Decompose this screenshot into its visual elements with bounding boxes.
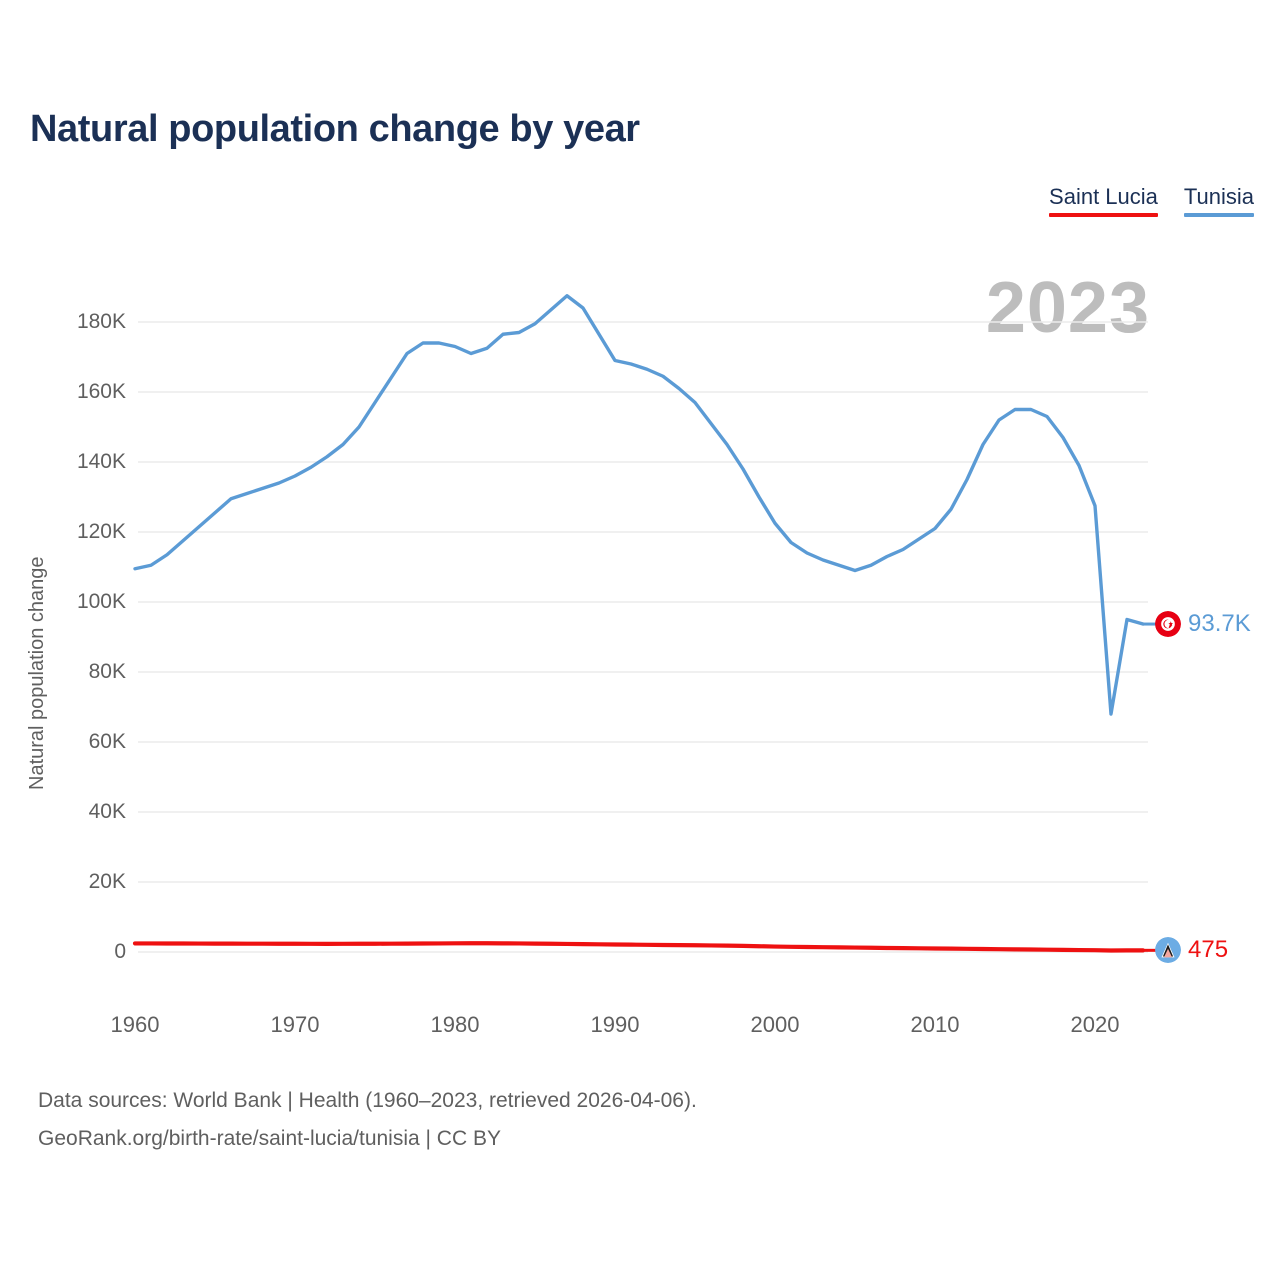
x-axis-tick-label: 2020 [1071,1012,1120,1038]
y-axis-tick-label: 80K [89,660,126,684]
series-lines [135,296,1143,951]
footer-line-1: Data sources: World Bank | Health (1960–… [38,1082,697,1120]
series-line-saint-lucia [135,943,1143,950]
footer-line-2: GeoRank.org/birth-rate/saint-lucia/tunis… [38,1120,697,1158]
saint-lucia-flag-icon [1155,937,1181,963]
series-line-tunisia [135,296,1143,714]
y-axis-tick-label: 20K [89,870,126,894]
x-axis-tick-label: 2010 [911,1012,960,1038]
chart-page: Natural population change by year Saint … [0,0,1280,1280]
x-axis-tick-label: 1980 [431,1012,480,1038]
tunisia-flag-icon [1155,611,1181,637]
endpoint-connectors [1143,624,1157,950]
tunisia-endpoint[interactable]: 93.7K [1155,610,1251,638]
y-axis-tick-label: 160K [77,380,126,404]
y-axis-tick-label: 100K [77,590,126,614]
footer-attribution: Data sources: World Bank | Health (1960–… [38,1082,697,1158]
x-axis-tick-label: 1960 [111,1012,160,1038]
y-axis-tick-label: 40K [89,800,126,824]
y-axis-tick-label: 0 [114,940,126,964]
y-axis-tick-label: 60K [89,730,126,754]
y-axis-tick-label: 120K [77,520,126,544]
saint-lucia-endpoint[interactable]: 475 [1155,936,1228,964]
x-axis-tick-label: 2000 [751,1012,800,1038]
y-axis-tick-label: 140K [77,450,126,474]
endpoint-value-label: 475 [1188,936,1228,964]
x-axis-tick-label: 1970 [271,1012,320,1038]
y-axis-tick-label: 180K [77,310,126,334]
x-axis-tick-label: 1990 [591,1012,640,1038]
gridlines [138,322,1148,952]
endpoint-value-label: 93.7K [1188,610,1251,638]
